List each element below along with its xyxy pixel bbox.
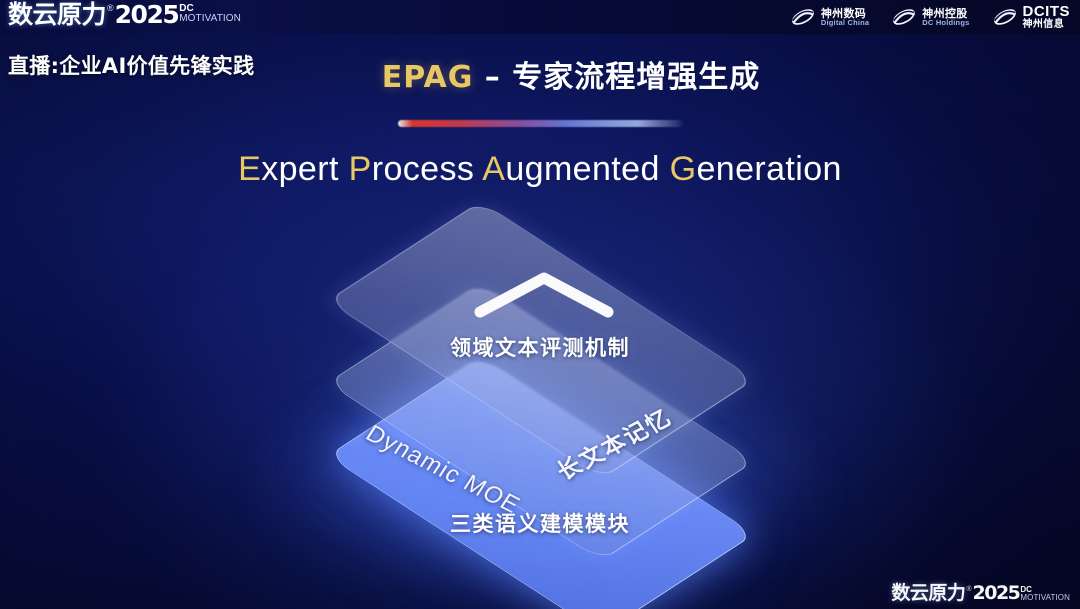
brand-logo-registered-mark: ® xyxy=(107,2,114,13)
diagram-label-long-text-memory: 长文本记忆 xyxy=(548,399,677,486)
slide-canvas: 数云原力 ® 2025 DC MOTIVATION 直播:企业AI价值先锋实践 … xyxy=(0,0,1080,609)
subtitle-word-expert: Expert xyxy=(238,150,349,188)
footer-watermark-logo: 数云原力 ® 2025 DC MOTIVATION xyxy=(891,584,1070,603)
footer-logo-motivation: MOTIVATION xyxy=(1020,594,1070,602)
swoosh-icon xyxy=(790,7,816,27)
brand-logo-year: 2025 xyxy=(115,2,179,27)
partner-name-en: DCITS xyxy=(1023,4,1071,20)
chevron-up-icon xyxy=(472,268,616,320)
page-title-chinese: – 专家流程增强生成 xyxy=(485,60,760,95)
brand-logo-dc-motivation: DC MOTIVATION xyxy=(179,2,241,24)
partner-name-en: DC Holdings xyxy=(922,19,969,27)
footer-logo-registered-mark: ® xyxy=(966,584,971,593)
subtitle-word-generation: Generation xyxy=(670,150,842,188)
page-title-acronym: EPAG xyxy=(382,60,474,95)
partner-logo-digital-china: 神州数码 Digital China xyxy=(790,7,869,27)
brand-logo-motivation: MOTIVATION xyxy=(179,14,241,24)
subtitle-word-augmented: Augmented xyxy=(482,150,669,188)
diagram-layer-middle xyxy=(327,283,755,561)
diagram-label-dynamic-moe: Dynamic MOE xyxy=(360,420,525,520)
footer-logo-dc-motivation: DC MOTIVATION xyxy=(1020,584,1070,602)
page-title: EPAG – 专家流程增强生成 xyxy=(0,52,1080,96)
background-glow xyxy=(250,360,830,609)
partner-text: 神州数码 Digital China xyxy=(821,8,869,28)
diagram-label-bottom: 三类语义建模模块 xyxy=(0,508,1080,538)
footer-logo-cn: 数云原力 xyxy=(891,584,965,603)
brand-logo-cn: 数云原力 xyxy=(8,2,106,27)
partner-logo-group: 神州数码 Digital China 神州控股 DC Holdings xyxy=(790,4,1070,31)
partner-name-en: Digital China xyxy=(821,19,869,27)
subtitle-word-process: Process xyxy=(349,150,483,188)
title-divider xyxy=(398,120,684,127)
swoosh-icon xyxy=(992,7,1018,27)
diagram-label-top: 领域文本评测机制 xyxy=(0,332,1080,362)
partner-logo-dcits: DCITS 神州信息 xyxy=(992,4,1071,31)
brand-logo: 数云原力 ® 2025 DC MOTIVATION xyxy=(8,2,241,27)
diagram-layer-bottom xyxy=(327,356,755,609)
page-subtitle: Expert Process Augmented Generation xyxy=(0,150,1080,189)
partner-text: DCITS 神州信息 xyxy=(1023,4,1071,31)
partner-name-cn: 神州信息 xyxy=(1023,20,1071,31)
diagram-layer-top xyxy=(327,201,755,479)
partner-logo-dc-holdings: 神州控股 DC Holdings xyxy=(891,7,969,27)
footer-logo-year: 2025 xyxy=(973,584,1020,603)
swoosh-icon xyxy=(891,7,917,27)
partner-text: 神州控股 DC Holdings xyxy=(922,8,969,28)
